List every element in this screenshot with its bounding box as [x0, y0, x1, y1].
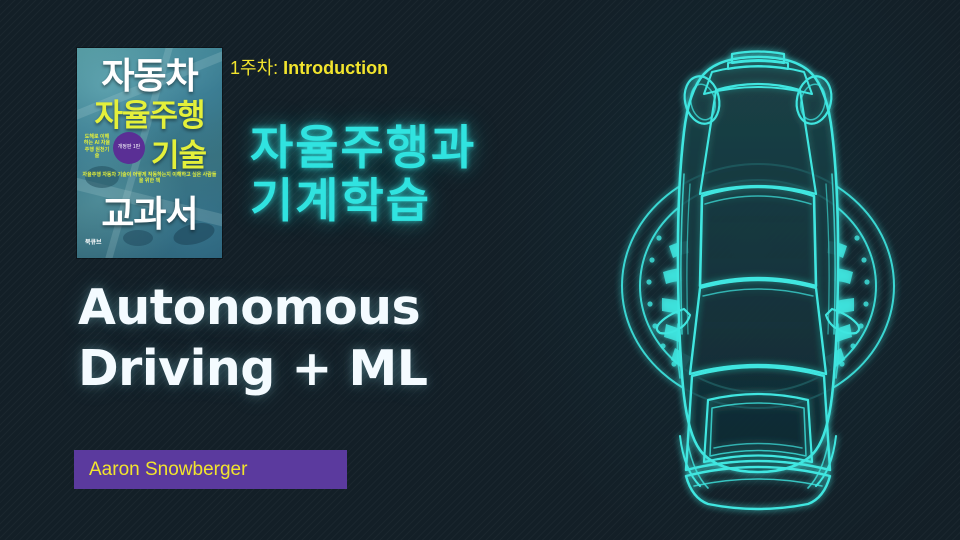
english-title: Autonomous Driving + ML: [78, 278, 498, 400]
korean-title-line-2: 기계학습: [250, 175, 570, 228]
book-cover-edition-badge-label: 개정판 1판: [118, 145, 141, 151]
author-name: Aaron Snowberger: [74, 459, 247, 481]
english-title-line-1: Autonomous: [78, 278, 498, 339]
book-cover-side-text: 도해로 이해하는 AI 자율주행 원천기술: [83, 134, 111, 159]
autonomous-car-icon: [556, 24, 960, 524]
car-top-view-svg: [556, 24, 960, 524]
week-kicker-topic: Introduction: [283, 58, 388, 78]
slide-root: 자동차 자율주행 기술 교과서 도해로 이해하는 AI 자율주행 원천기술 개정…: [0, 0, 960, 540]
week-kicker: 1주차: Introduction: [230, 54, 388, 80]
book-cover-title-line-4: 교과서: [77, 196, 222, 232]
book-cover-subtitle: 자율주행 자동차 기술이 어떻게 작동하는지 이해하고 싶은 사람들을 위한 책: [82, 172, 217, 184]
book-cover-title-line-1: 자동차: [77, 58, 222, 94]
book-cover-image: 자동차 자율주행 기술 교과서 도해로 이해하는 AI 자율주행 원천기술 개정…: [77, 48, 222, 258]
book-cover-title-line-2: 자율주행: [77, 100, 222, 131]
book-cover-publisher: 북큐브: [85, 237, 102, 246]
book-cover-edition-badge: 개정판 1판: [113, 132, 145, 164]
author-badge: Aaron Snowberger: [74, 450, 347, 489]
week-kicker-week: 1주차:: [230, 58, 278, 78]
korean-title-line-1: 자율주행과: [250, 122, 570, 175]
korean-title: 자율주행과 기계학습: [250, 122, 570, 227]
english-title-line-2: Driving + ML: [78, 339, 498, 400]
